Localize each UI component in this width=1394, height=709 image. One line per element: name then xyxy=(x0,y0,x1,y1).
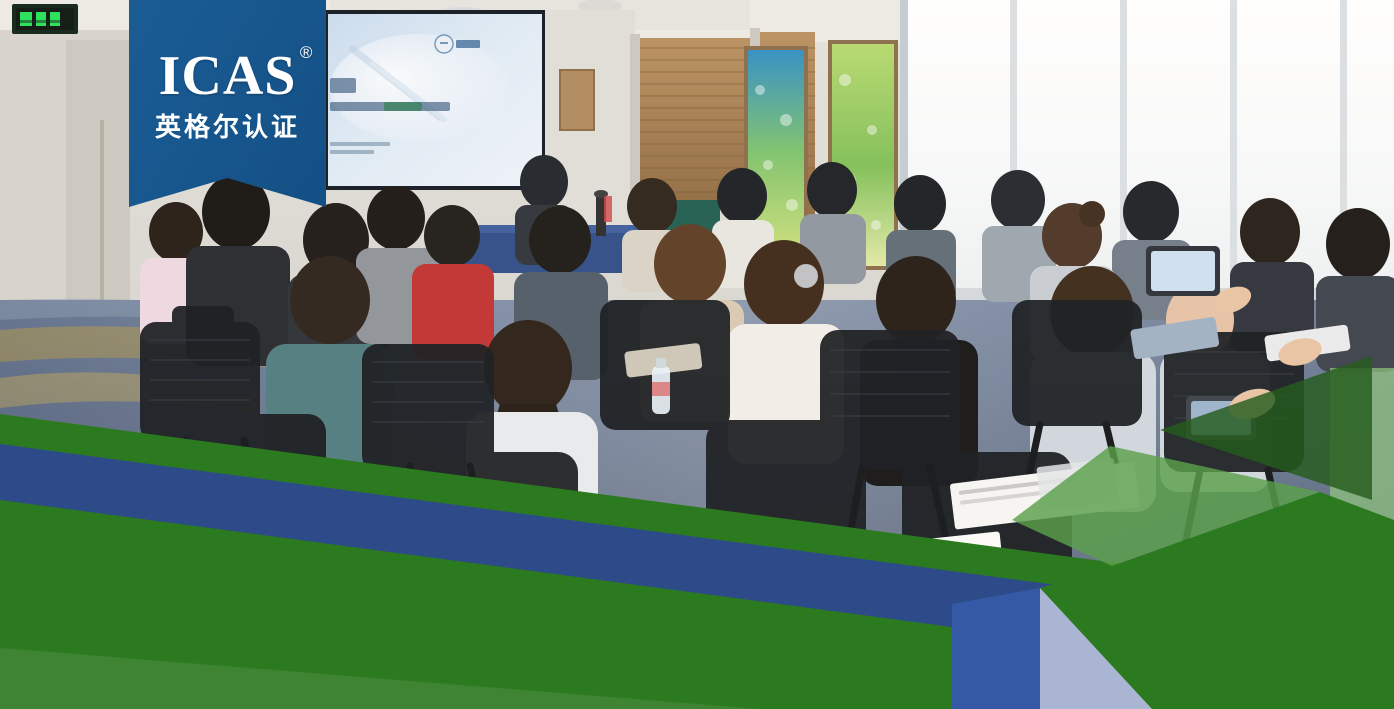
brand-wordmark-text: ICAS xyxy=(159,45,297,107)
icas-logo-banner: ICAS® 英格尔认证 xyxy=(129,0,326,207)
brand-chinese-name: 英格尔认证 xyxy=(129,114,326,140)
logo-content: ICAS® 英格尔认证 xyxy=(129,48,326,140)
brand-wordmark: ICAS® xyxy=(159,48,297,104)
registered-trademark-icon: ® xyxy=(300,44,314,61)
banner-image: ICAS® 英格尔认证 xyxy=(0,0,1394,709)
